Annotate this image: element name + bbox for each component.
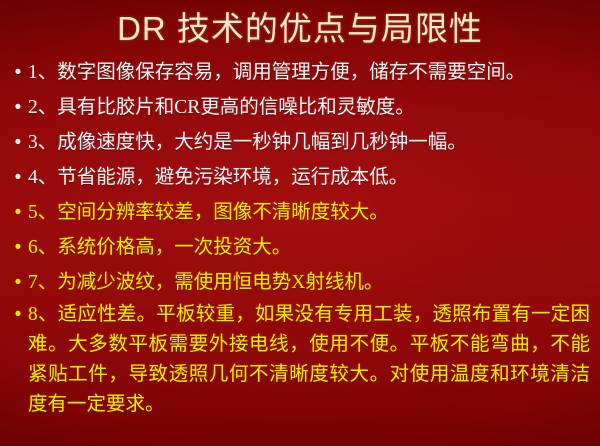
bullet-list: • 1、数字图像保存容易，调用管理方便，储存不需要空间。 • 2、具有比胶片和C… <box>0 51 600 420</box>
list-item-text: 5、空间分辨率较差，图像不清晰度较大。 <box>28 195 590 230</box>
list-item: • 2、具有比胶片和CR更高的信噪比和灵敏度。 <box>8 90 590 125</box>
list-item-text: 7、为减少波纹，需使用恒电势X射线机。 <box>28 265 590 300</box>
list-item-text: 8、适应性差。平板较重，如果没有专用工装，透照布置有一定困难。大多数平板需要外接… <box>28 300 590 420</box>
list-item: • 8、适应性差。平板较重，如果没有专用工装，透照布置有一定困难。大多数平板需要… <box>8 300 590 420</box>
bullet-marker: • <box>8 160 28 195</box>
list-item: • 7、为减少波纹，需使用恒电势X射线机。 <box>8 265 590 300</box>
bullet-marker: • <box>8 230 28 265</box>
list-item: • 6、系统价格高，一次投资大。 <box>8 230 590 265</box>
page-title: DR 技术的优点与局限性 <box>0 0 600 51</box>
list-item: • 5、空间分辨率较差，图像不清晰度较大。 <box>8 195 590 230</box>
bullet-marker: • <box>8 125 28 160</box>
list-item: • 1、数字图像保存容易，调用管理方便，储存不需要空间。 <box>8 55 590 90</box>
bullet-marker: • <box>8 300 28 330</box>
list-item-text: 6、系统价格高，一次投资大。 <box>28 230 590 265</box>
bullet-marker: • <box>8 90 28 125</box>
bullet-marker: • <box>8 55 28 90</box>
list-item-text: 2、具有比胶片和CR更高的信噪比和灵敏度。 <box>28 90 590 125</box>
slide-canvas: DR 技术的优点与局限性 • 1、数字图像保存容易，调用管理方便，储存不需要空间… <box>0 0 600 446</box>
list-item-text: 1、数字图像保存容易，调用管理方便，储存不需要空间。 <box>28 55 590 90</box>
bullet-marker: • <box>8 265 28 300</box>
list-item-text: 3、成像速度快，大约是一秒钟几幅到几秒钟一幅。 <box>28 125 590 160</box>
list-item: • 4、节省能源，避免污染环境，运行成本低。 <box>8 160 590 195</box>
list-item-text: 4、节省能源，避免污染环境，运行成本低。 <box>28 160 590 195</box>
bullet-marker: • <box>8 195 28 230</box>
list-item: • 3、成像速度快，大约是一秒钟几幅到几秒钟一幅。 <box>8 125 590 160</box>
